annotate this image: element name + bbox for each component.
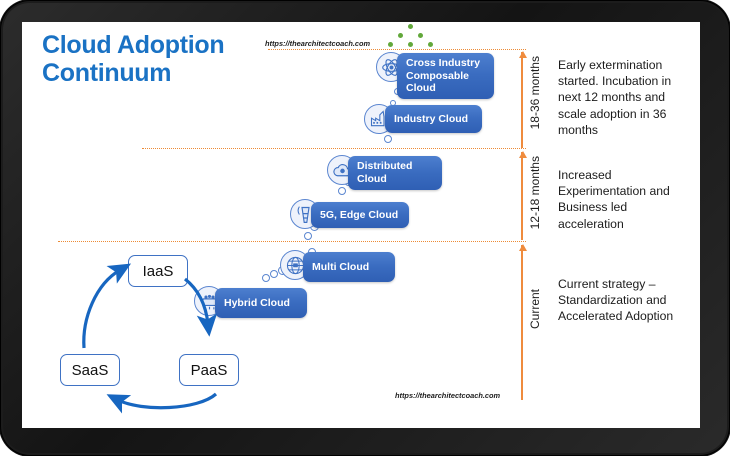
watermark-url-bottom: https://thearchitectcoach.com [395, 391, 500, 400]
service-label: SaaS [72, 362, 109, 379]
tier-description-current: Current strategy – Standardization and A… [558, 276, 684, 325]
service-box-paas[interactable]: PaaS [179, 354, 239, 386]
tier-timeframe-future: 18-36 months [528, 56, 542, 129]
bracket-tier-future [521, 52, 523, 148]
tier-divider-upper [142, 148, 526, 149]
card-multi-cloud[interactable]: Multi Cloud [303, 252, 395, 282]
green-dots-decoration [382, 22, 442, 52]
watermark-url-top: https://thearchitectcoach.com [265, 39, 370, 48]
tablet-device-frame: Cloud Adoption Continuum https://thearch… [0, 0, 730, 456]
card-label: Multi Cloud [312, 261, 369, 274]
bubble [384, 135, 392, 143]
service-label: PaaS [191, 362, 228, 379]
card-label: Hybrid Cloud [224, 297, 290, 310]
bubble [262, 274, 270, 282]
tier-description-future: Early extermination started. Incubation … [558, 57, 684, 138]
card-5g-edge-cloud[interactable]: 5G, Edge Cloud [311, 202, 409, 228]
bubble [270, 270, 278, 278]
bubble [338, 187, 346, 195]
green-dot [408, 24, 413, 29]
card-label: Distributed Cloud [357, 160, 433, 186]
card-label: Industry Cloud [394, 113, 468, 126]
card-cross-industry-composable-cloud[interactable]: Cross Industry Composable Cloud [397, 53, 494, 99]
card-label: Cross Industry Composable Cloud [406, 57, 485, 95]
service-box-saas[interactable]: SaaS [60, 354, 120, 386]
card-distributed-cloud[interactable]: Distributed Cloud [348, 156, 442, 190]
card-hybrid-cloud[interactable]: Hybrid Cloud [215, 288, 307, 318]
bubble [304, 232, 312, 240]
slide-screen: Cloud Adoption Continuum https://thearch… [22, 22, 700, 428]
tier-divider-top [268, 49, 526, 50]
green-dot [428, 42, 433, 47]
green-dot [388, 42, 393, 47]
page-title: Cloud Adoption Continuum [42, 31, 292, 87]
card-industry-cloud[interactable]: Industry Cloud [385, 105, 482, 133]
arrow-paas-to-saas [118, 394, 216, 408]
tier-divider-lower [58, 241, 526, 242]
card-label: 5G, Edge Cloud [320, 209, 398, 222]
green-dot [418, 33, 423, 38]
bracket-tier-mid [521, 152, 523, 240]
green-dot [408, 42, 413, 47]
service-label: IaaS [143, 263, 174, 280]
service-box-iaas[interactable]: IaaS [128, 255, 188, 287]
tier-description-mid: Increased Experimentation and Business l… [558, 167, 684, 232]
bracket-tier-current [521, 245, 523, 400]
tier-timeframe-mid: 12-18 months [528, 156, 542, 229]
tier-timeframe-current: Current [528, 289, 542, 329]
green-dot [398, 33, 403, 38]
arrow-saas-to-iaas [84, 270, 120, 348]
